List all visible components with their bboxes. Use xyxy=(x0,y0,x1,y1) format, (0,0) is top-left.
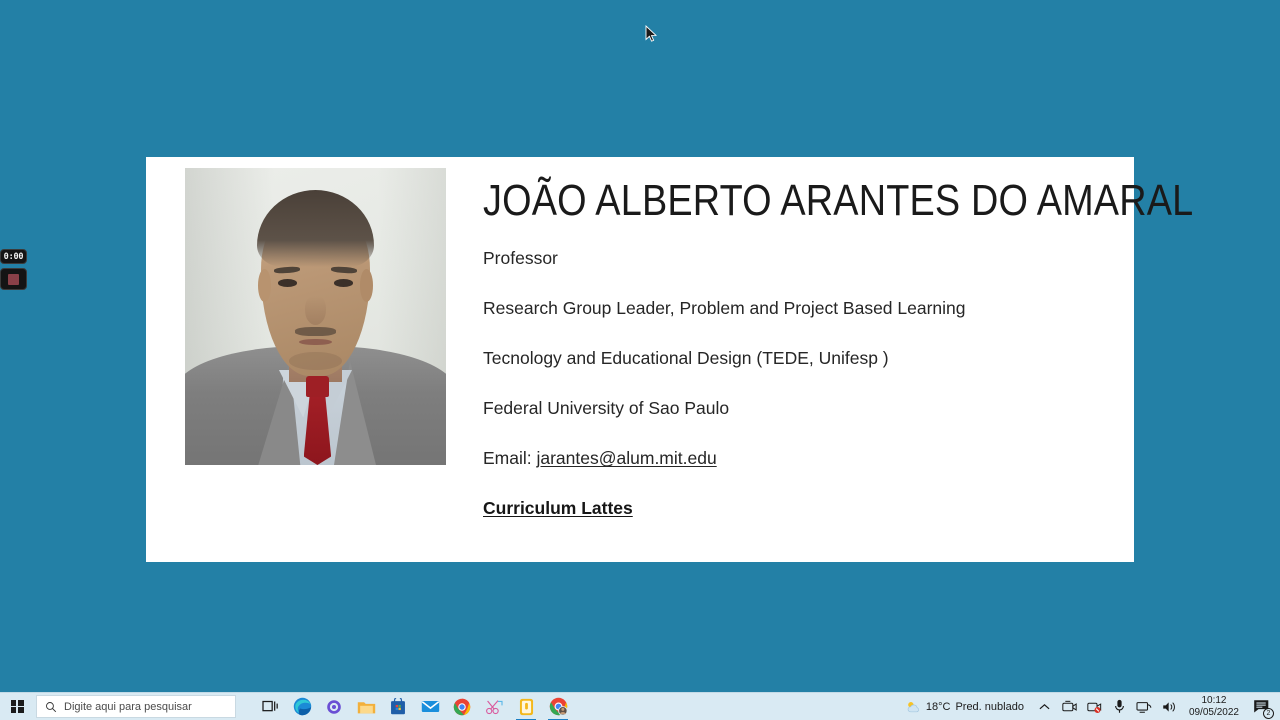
notification-count-badge: 2 xyxy=(1263,708,1274,719)
task-view-icon[interactable] xyxy=(254,693,286,720)
search-placeholder-text: Digite aqui para pesquisar xyxy=(64,701,192,713)
desktop-background[interactable]: 0:00 xyxy=(0,0,1280,692)
mouse-cursor xyxy=(645,25,657,43)
weather-temperature: 18°C xyxy=(926,701,951,713)
chin xyxy=(289,352,341,370)
note-app-icon[interactable] xyxy=(510,693,542,720)
notification-center-button[interactable]: 2 xyxy=(1246,693,1276,720)
bio-text-block: JOÃO ALBERTO ARANTES DO AMARAL Professor… xyxy=(446,168,1280,520)
ear-right xyxy=(360,269,373,302)
windows-logo-icon xyxy=(11,700,24,713)
camera-icon[interactable] xyxy=(1057,693,1082,720)
stop-square-icon xyxy=(8,274,19,285)
file-explorer-icon[interactable] xyxy=(350,693,382,720)
microsoft-store-icon[interactable] xyxy=(382,693,414,720)
mail-icon[interactable] xyxy=(414,693,446,720)
email-label: Email: xyxy=(483,448,536,468)
content-panel: JOÃO ALBERTO ARANTES DO AMARAL Professor… xyxy=(146,157,1134,562)
clock-widget[interactable]: 10:12 09/05/2022 xyxy=(1182,695,1246,719)
chrome-profile-icon[interactable] xyxy=(542,693,574,720)
clock-date: 09/05/2022 xyxy=(1189,707,1239,719)
curriculum-lattes-link[interactable]: Curriculum Lattes xyxy=(483,498,633,518)
google-chrome-icon[interactable] xyxy=(446,693,478,720)
snipping-tool-icon[interactable] xyxy=(478,693,510,720)
bio-line-department: Tecnology and Educational Design (TEDE, … xyxy=(483,346,1280,370)
bio-line-university: Federal University of Sao Paulo xyxy=(483,396,1280,420)
show-hidden-icons-button[interactable] xyxy=(1032,693,1057,720)
email-link[interactable]: jarantes@alum.mit.edu xyxy=(536,448,716,468)
bio-line-role: Professor xyxy=(483,246,1280,270)
hair xyxy=(257,190,374,267)
system-tray: 18°C Pred. nublado xyxy=(902,693,1280,720)
screen-recorder-widget[interactable]: 0:00 xyxy=(0,249,27,290)
network-icon[interactable] xyxy=(1132,693,1157,720)
volume-icon[interactable] xyxy=(1157,693,1182,720)
bio-line-group: Research Group Leader, Problem and Proje… xyxy=(483,296,1280,320)
recording-timer: 0:00 xyxy=(0,249,27,264)
necktie-knot xyxy=(306,376,328,397)
weather-condition: Pred. nublado xyxy=(955,701,1024,713)
search-icon xyxy=(45,701,57,713)
page-title: JOÃO ALBERTO ARANTES DO AMARAL xyxy=(483,176,1193,226)
settings-gear-icon[interactable] xyxy=(318,693,350,720)
moustache xyxy=(295,327,337,336)
camera-off-icon[interactable] xyxy=(1082,693,1107,720)
microsoft-edge-icon[interactable] xyxy=(286,693,318,720)
professor-portrait-photo xyxy=(185,168,446,465)
bio-line-email: Email: jarantes@alum.mit.edu xyxy=(483,446,1280,470)
microphone-icon[interactable] xyxy=(1107,693,1132,720)
partly-cloudy-icon xyxy=(906,700,921,714)
taskbar-app-icons xyxy=(254,693,574,720)
ear-left xyxy=(258,269,271,302)
weather-widget[interactable]: 18°C Pred. nublado xyxy=(902,700,1032,714)
start-button[interactable] xyxy=(0,693,34,720)
stop-recording-button[interactable] xyxy=(0,268,27,290)
taskbar: Digite aqui para pesquisar xyxy=(0,692,1280,720)
clock-time: 10:12 xyxy=(1201,695,1226,707)
search-input[interactable]: Digite aqui para pesquisar xyxy=(36,695,236,718)
chevron-up-icon xyxy=(1039,703,1050,711)
